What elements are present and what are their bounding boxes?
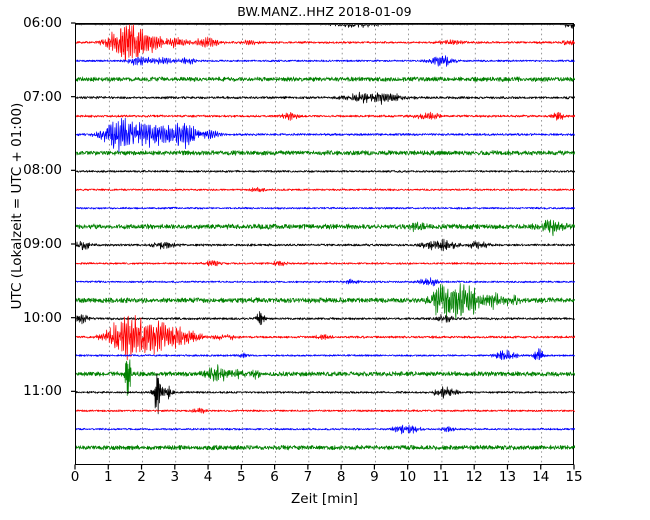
x-tick-label-13: 13 [499, 469, 516, 485]
y-axis-label: UTC (Lokalzeit = UTC + 01:00) [9, 0, 25, 456]
seismogram-figure: BW.MANZ..HHZ 2018-01-09 06:0007:0008:000… [0, 0, 650, 520]
x-tick-label-9: 9 [370, 469, 379, 485]
x-tick-label-1: 1 [104, 469, 113, 485]
x-axis-tick-labels: 0123456789101112131415 [0, 0, 650, 520]
x-tick-label-12: 12 [466, 469, 483, 485]
x-tick-label-14: 14 [532, 469, 549, 485]
y-axis-label-holder: UTC (Lokalzeit = UTC + 01:00) [0, 0, 40, 520]
x-tick-label-2: 2 [137, 469, 146, 485]
x-tick-label-4: 4 [204, 469, 213, 485]
x-tick-label-8: 8 [337, 469, 346, 485]
x-tick-label-7: 7 [304, 469, 313, 485]
x-tick-label-6: 6 [270, 469, 279, 485]
x-tick-label-3: 3 [171, 469, 180, 485]
x-tick-label-15: 15 [565, 469, 582, 485]
x-axis-label: Zeit [min] [75, 491, 574, 507]
x-tick-label-0: 0 [71, 469, 80, 485]
x-tick-label-10: 10 [399, 469, 416, 485]
x-tick-label-11: 11 [432, 469, 449, 485]
x-tick-label-5: 5 [237, 469, 246, 485]
